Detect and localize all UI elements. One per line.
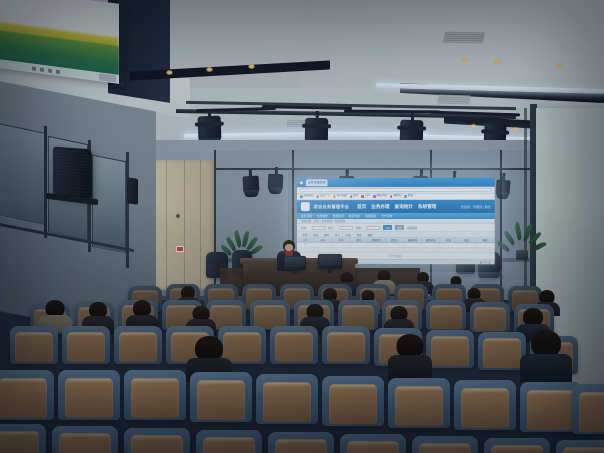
bookmark-item[interactable]: 常用网址 [300,195,314,198]
bookmark-item[interactable]: 帮助 [404,195,413,198]
auditorium-seat[interactable] [470,302,510,332]
col-owner: 负责人 [386,238,404,242]
bookmark-item[interactable]: 办公系统 [333,195,347,198]
cell-status [440,248,458,252]
auditorium-seat[interactable] [484,438,550,453]
filter-bar: 名称： 编号： 状态： 查询 重置 高级搜索 [297,224,495,232]
filter-label-name: 名称： [301,225,309,229]
stage-light [495,180,510,197]
window-mullion [44,126,47,239]
nav-item[interactable]: 权限配置 [365,214,376,218]
auditorium-seat[interactable] [62,326,110,364]
menu-item-business[interactable]: 业务办理 [371,204,389,210]
auditorium-seat[interactable] [256,374,318,424]
door-knob[interactable] [176,214,180,218]
browser-window: 业务管理系统 常用网址 百度一下 办公系统 邮件 门户 网络学院 资料库 帮助 … [297,178,495,265]
stage-light-yoke [494,117,497,126]
auditorium-seat[interactable] [114,326,162,364]
auditorium-seat[interactable] [52,426,118,453]
col-status: 状态 [440,238,458,242]
auditorium-seat[interactable] [0,370,54,420]
cell-actions[interactable] [476,248,494,252]
ceiling-vent [443,32,485,44]
app-logo-icon [301,202,310,211]
toolbar-print-button[interactable]: 打印 [355,232,363,236]
app-user-info[interactable]: 欢迎您，管理员 | 退出 [461,204,491,208]
nav-item[interactable]: 日志查询 [381,214,392,218]
bookmark-item[interactable]: 网络学院 [373,195,387,198]
stage-light-yoke [410,113,413,122]
taskbar-icon [56,70,60,75]
stage-light-yoke [274,167,277,176]
browser-tab[interactable]: 业务管理系统 [306,179,328,186]
downlight [512,127,519,132]
menu-item-settings[interactable]: 系统管理 [418,203,436,209]
stage-light [268,174,284,192]
col-code: 编号 [315,238,333,242]
toolbar-export-button[interactable]: 导出 [344,232,352,236]
auditorium-seat[interactable] [124,428,190,453]
filter-select-status[interactable] [366,225,380,229]
presenter-monitor [284,256,306,270]
bookmark-item[interactable]: 资料库 [390,195,401,198]
taskbar-clock [99,73,116,82]
cell-type [350,248,368,252]
monitor-screen [319,255,341,266]
col-remark: 备注 [458,238,476,242]
bookmark-item[interactable]: 百度一下 [317,195,331,198]
cell-actions[interactable] [476,243,494,247]
menu-item-statistics[interactable]: 查询统计 [395,203,413,209]
auditorium-seat[interactable] [426,330,474,368]
potted-plant [506,222,536,260]
stage-light [243,176,260,195]
col-type: 类型 [350,238,368,242]
cell-code [315,248,333,252]
filter-input-name[interactable] [312,225,326,229]
taskbar-icon [32,66,36,71]
exit-sign-icon [176,246,184,252]
toolbar-delete-button[interactable]: 删除 [323,232,331,236]
conference-hall-photo: 业务管理系统 常用网址 百度一下 办公系统 邮件 门户 网络学院 资料库 帮助 … [0,0,604,453]
auditorium-seat[interactable] [124,370,186,420]
auditorium-seat[interactable] [190,372,252,422]
cell-code [315,243,333,247]
stage-light-yoke [249,169,252,178]
auditorium-seat[interactable] [454,380,516,430]
stage-light-lens [496,192,508,200]
page-indicator: 第 1 / 1 页 [480,260,491,264]
cell-owner [386,243,404,247]
filter-input-code[interactable] [339,225,353,229]
cell-remark [458,243,476,247]
browser-tab-title: 业务管理系统 [308,181,326,184]
stage-light-yoke [315,111,318,120]
presenter-face [285,244,293,251]
cell-name [332,248,350,252]
cell-remark [458,248,476,252]
stage-light-lens [269,187,282,194]
auditorium-seat[interactable] [340,434,406,453]
stage-light-lens [245,190,259,198]
audience-person [388,334,432,380]
audience-person [520,330,572,382]
stage-light [198,116,222,143]
monitor-screen [285,257,305,267]
nav-item[interactable]: 业务受理 [301,214,312,218]
nav-item[interactable]: 信息维护 [317,214,328,218]
auditorium-seat[interactable] [388,378,450,428]
wall-mullion [214,168,536,170]
wall-speaker-secondary [127,177,138,205]
auditorium-seat[interactable] [0,424,46,453]
downlight [556,63,563,68]
cell-name [332,243,350,247]
col-created: 创建时间 [404,238,422,242]
nav-item[interactable]: 报表导出 [349,214,360,218]
presenter-monitor-secondary [318,254,342,269]
wood-wall-panel [152,160,214,290]
cell-updated [422,248,440,252]
taskbar-icon [40,67,44,72]
cell-type [350,243,368,247]
auditorium-seat[interactable] [572,384,604,434]
filter-label-status: 状态： [356,225,364,229]
bookmark-item[interactable]: 邮件 [350,195,359,198]
stage-light-bracket [302,123,331,128]
col-updated: 更新时间 [422,238,440,242]
cell-updated [422,243,440,247]
window-pane [0,123,46,225]
downlight [248,64,255,69]
reset-button[interactable]: 重置 [395,225,404,230]
advanced-search-link[interactable]: 高级搜索 [407,226,417,230]
auditorium-seat[interactable] [10,326,58,364]
auditorium-seat[interactable] [322,376,384,426]
toolbar-edit-button[interactable]: 修改 [312,232,320,236]
auditorium-seat[interactable] [426,300,466,330]
downlight [206,67,213,72]
stage-light-yoke [345,169,348,178]
col-dept: 所属部门 [368,238,386,242]
search-button[interactable]: 查询 [383,225,392,230]
cell-created [404,248,422,252]
stage-light-yoke [207,109,210,118]
cell-status [440,243,458,247]
downlight [166,70,173,75]
auditorium-seat[interactable] [412,436,478,453]
browser-logo-icon [299,180,304,185]
app-main-menu: 首页 业务办理 查询统计 系统管理 [357,203,436,209]
auditorium-seat[interactable] [268,432,334,453]
auditorium-seat[interactable] [270,326,318,364]
speaker-grille [56,150,89,197]
auditorium-seat[interactable] [58,370,120,420]
projection-screen: 业务管理系统 常用网址 百度一下 办公系统 邮件 门户 网络学院 资料库 帮助 … [297,178,495,265]
downlight [494,60,501,65]
bookmark-item[interactable]: 门户 [361,195,370,198]
toolbar-refresh-button[interactable]: 刷新 [366,232,374,236]
auditorium-seat[interactable] [478,332,526,370]
stage-light-yoke [419,169,422,178]
monitor-stand [293,270,297,274]
toolbar-add-button[interactable]: 新增 [301,232,309,236]
app-header: 综合业务管理平台 首页 业务办理 查询统计 系统管理 欢迎您，管理员 | 退出 [297,200,495,213]
stage-light-yoke [502,173,506,182]
taskbar-icon [48,69,52,74]
app-system-title: 综合业务管理平台 [314,204,349,210]
col-name: 名称 [332,238,350,242]
toolbar-import-button[interactable]: 导入 [333,232,341,236]
col-actions: 操作 [476,238,494,242]
menu-item-home[interactable]: 首页 [357,204,366,210]
cell-owner [386,248,404,252]
auditorium-seat[interactable] [196,430,262,453]
nav-item[interactable]: 数据核查 [333,214,344,218]
auditorium-seat[interactable] [556,440,604,453]
downlight [470,124,477,129]
wall-speaker [53,147,92,201]
ceiling-vent [437,94,470,104]
cell-dept [368,248,386,252]
auditorium-seat[interactable] [322,326,370,364]
cell-dept [368,243,386,247]
filter-label-code: 编号： [328,225,336,229]
plant-pot [516,250,528,260]
address-input[interactable] [300,188,492,193]
downlight [462,58,469,63]
monitor-stand [328,269,333,273]
cell-created [404,243,422,247]
